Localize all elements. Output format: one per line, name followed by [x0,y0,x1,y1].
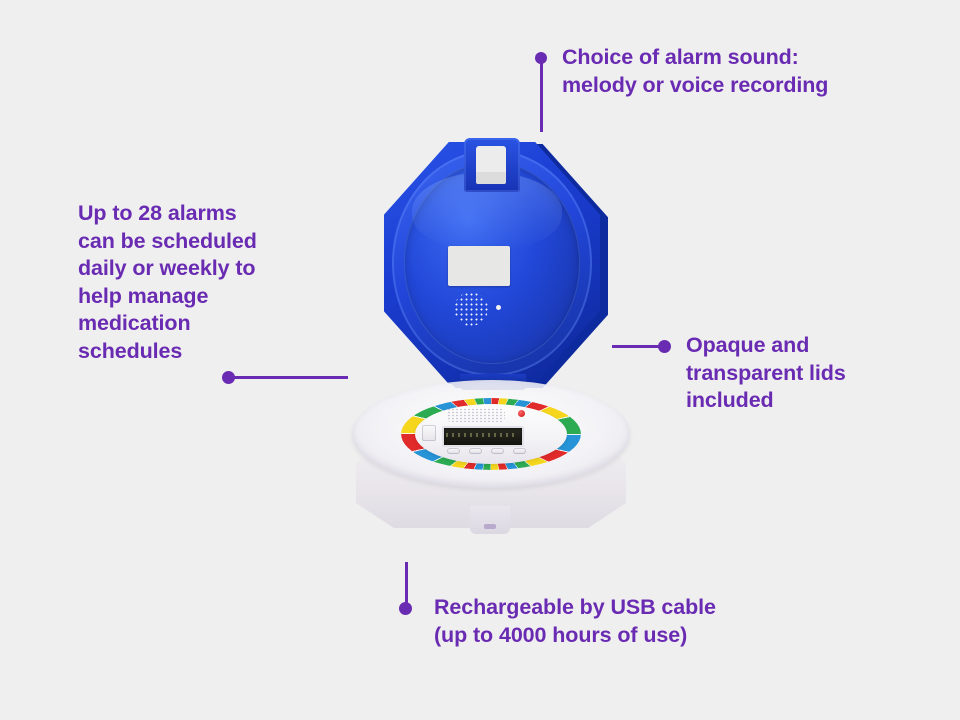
base-speaker-grille-icon [447,408,505,422]
pill-dispenser-base [352,380,630,540]
lid-led-icon [496,305,501,310]
connector-line-alarm-count [232,376,348,379]
connector-dot-alarm-sound [535,52,547,64]
product-image-pill-dispenser [340,130,640,550]
connector-line-alarm-sound [540,60,543,132]
annotation-lids-included: Opaque and transparent lids included [686,332,916,415]
mode-button[interactable] [422,425,436,441]
annotation-usb-charging: Rechargeable by USB cable (up to 4000 ho… [434,594,804,649]
lid-label-plate [448,246,510,286]
annotation-alarm-count: Up to 28 alarms can be scheduled daily o… [78,200,318,365]
annotation-alarm-sound: Choice of alarm sound: melody or voice r… [562,44,902,99]
pill-dispenser-lid [384,138,608,388]
control-button-2[interactable] [469,448,482,454]
control-button-4[interactable] [513,448,526,454]
infographic-canvas: Choice of alarm sound: melody or voice r… [0,0,960,720]
control-button-1[interactable] [447,448,460,454]
control-button-3[interactable] [491,448,504,454]
connector-dot-lids-included [658,340,671,353]
connector-dot-usb-charging [399,602,412,615]
usb-port-icon [484,524,496,529]
lcd-display-text [446,433,516,437]
usb-port-housing [470,506,510,534]
status-led-icon [518,410,525,417]
lid-speaker-grille-icon [454,292,488,326]
lid-latch-tab [476,172,506,184]
connector-dot-alarm-count [222,371,235,384]
